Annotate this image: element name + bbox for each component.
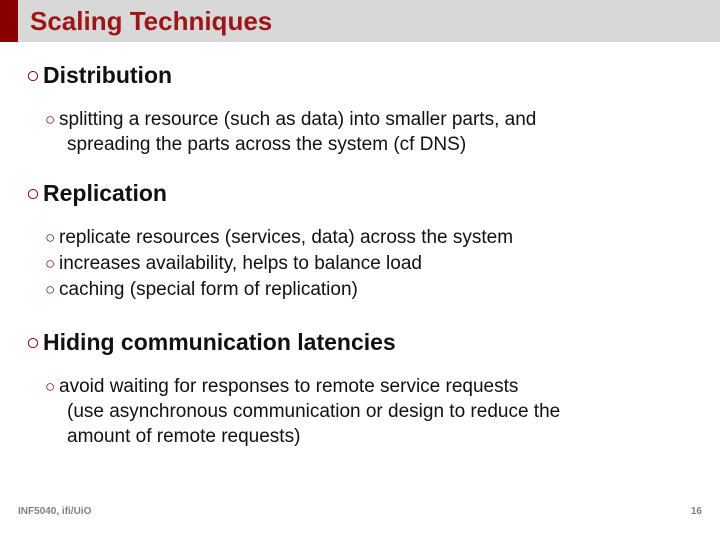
slide-content: ○ Distribution ○ splitting a resource (s…: [0, 60, 720, 450]
spacer: [0, 212, 720, 225]
section-heading: Replication: [43, 178, 167, 208]
title-accent-block: [0, 0, 18, 42]
spacer: [0, 361, 720, 374]
sub-bullet-replication-3: ○ caching (special form of replication): [0, 277, 720, 302]
ring-bullet-icon: ○: [45, 374, 59, 399]
sub-bullet-text: splitting a resource (such as data) into…: [59, 107, 699, 157]
sub-bullet-line-continued: (use asynchronous communication or desig…: [67, 399, 699, 424]
bullet-level1-hiding-latencies: ○ Hiding communication latencies: [0, 327, 720, 357]
ring-bullet-icon: ○: [26, 178, 43, 208]
sub-bullet-line-continued: spreading the parts across the system (c…: [67, 132, 699, 157]
sub-bullet-latencies-1: ○ avoid waiting for responses to remote …: [0, 374, 720, 449]
bullet-level1-replication: ○ Replication: [0, 178, 720, 208]
page-title: Scaling Techniques: [30, 0, 272, 42]
slide-footer: INF5040, ifi/UiO 16: [0, 500, 720, 524]
spacer: [0, 158, 720, 178]
sub-bullet-text: caching (special form of replication): [59, 277, 699, 302]
sub-bullet-distribution-1: ○ splitting a resource (such as data) in…: [0, 107, 720, 157]
ring-bullet-icon: ○: [26, 60, 43, 90]
spacer: [0, 303, 720, 327]
sub-bullet-text: increases availability, helps to balance…: [59, 251, 699, 276]
sub-bullet-line: avoid waiting for responses to remote se…: [59, 376, 518, 397]
sub-bullet-replication-2: ○ increases availability, helps to balan…: [0, 251, 720, 276]
ring-bullet-icon: ○: [26, 327, 43, 357]
sub-bullet-line-continued: amount of remote requests): [67, 424, 699, 449]
ring-bullet-icon: ○: [45, 277, 59, 302]
bullet-level1-distribution: ○ Distribution: [0, 60, 720, 90]
slide-title-bar: Scaling Techniques: [0, 0, 720, 42]
spacer: [0, 94, 720, 107]
ring-bullet-icon: ○: [45, 251, 59, 276]
ring-bullet-icon: ○: [45, 107, 59, 132]
section-heading: Distribution: [43, 60, 172, 90]
sub-bullet-text: avoid waiting for responses to remote se…: [59, 374, 699, 449]
sub-bullet-line: splitting a resource (such as data) into…: [59, 109, 536, 130]
footer-course-label: INF5040, ifi/UiO: [18, 500, 91, 524]
footer-page-number: 16: [691, 500, 702, 524]
section-heading: Hiding communication latencies: [43, 327, 396, 357]
ring-bullet-icon: ○: [45, 225, 59, 250]
sub-bullet-text: replicate resources (services, data) acr…: [59, 225, 699, 250]
sub-bullet-replication-1: ○ replicate resources (services, data) a…: [0, 225, 720, 250]
